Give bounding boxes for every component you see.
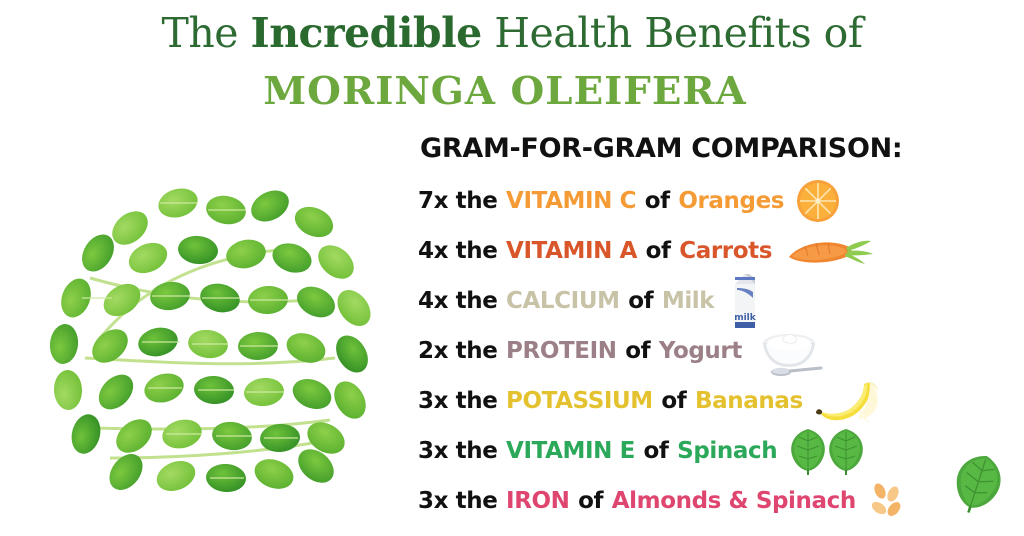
food-yogurt: Yogurt: [658, 338, 743, 364]
connector-of-2: of: [628, 288, 653, 314]
food-oranges: Oranges: [677, 188, 785, 214]
icons-iron: [867, 481, 907, 521]
nutrient-vitamin-e: VITAMIN E: [505, 438, 636, 464]
icons-protein: [753, 325, 827, 377]
fact-text-vitamin-a: 4x the VITAMIN A of Carrots: [418, 236, 773, 266]
fact-row-iron: 3x the IRON of Almonds & Spinach: [418, 476, 1024, 526]
connector-of-3: of: [625, 338, 650, 364]
fact-text-potassium: 3x the POTASSIUM of Bananas: [418, 386, 804, 416]
fact-row-potassium: 3x the POTASSIUM of Bananas: [418, 376, 1024, 426]
connector-of-6: of: [578, 488, 603, 514]
connector-the-2: the: [456, 288, 498, 314]
fact-row-protein: 2x the PROTEIN of Yogurt: [418, 326, 1024, 376]
multiplier-vitamin-a: 4x: [418, 238, 448, 264]
connector-of-1: of: [646, 238, 671, 264]
nutrient-iron: IRON: [505, 488, 570, 514]
fact-text-iron: 3x the IRON of Almonds & Spinach: [418, 486, 857, 516]
carrot-icon: [783, 232, 875, 270]
connector-of-4: of: [661, 388, 686, 414]
icons-calcium: milk: [725, 272, 765, 330]
connector-of-5: of: [644, 438, 669, 464]
nutrient-vitamin-a: VITAMIN A: [505, 238, 638, 264]
fact-text-protein: 2x the PROTEIN of Yogurt: [418, 336, 743, 366]
icons-vitamin-a: [783, 232, 875, 270]
infographic-page: The Incredible Health Benefits of MORING…: [0, 0, 1024, 536]
connector-the-5: the: [456, 438, 498, 464]
moringa-leaves-photo: [30, 158, 390, 518]
food-carrots: Carrots: [678, 238, 773, 264]
yogurt-bowl-icon: [753, 325, 827, 377]
fact-row-vitamin-c: 7x the VITAMIN C of Oranges: [418, 176, 1024, 226]
banana-icon: [814, 374, 884, 428]
nutrient-potassium: POTASSIUM: [505, 388, 654, 414]
connector-the-6: the: [456, 488, 498, 514]
multiplier-potassium: 3x: [418, 388, 448, 414]
connector-of-0: of: [645, 188, 670, 214]
multiplier-iron: 3x: [418, 488, 448, 514]
nutrient-protein: PROTEIN: [505, 338, 618, 364]
icons-vitamin-e: [788, 427, 866, 475]
fact-row-vitamin-a: 4x the VITAMIN A of Carrots: [418, 226, 1024, 276]
multiplier-vitamin-e: 3x: [418, 438, 448, 464]
title-part-incredible: Incredible: [251, 9, 482, 57]
milk-carton-icon: milk: [725, 272, 765, 330]
comparison-heading: GRAM-FOR-GRAM COMPARISON:: [420, 132, 1024, 166]
spinach-leaf-icon: [826, 427, 866, 475]
comparison-list: GRAM-FOR-GRAM COMPARISON: 7x the VITAMIN…: [418, 132, 1024, 532]
spinach-leaf-icon-iron-row: [952, 452, 1004, 519]
fact-row-calcium: 4x the CALCIUM of Milk milk: [418, 276, 1024, 326]
orange-slice-icon: [795, 178, 841, 224]
multiplier-calcium: 4x: [418, 288, 448, 314]
milk-carton-label: milk: [734, 313, 757, 323]
icons-potassium: [814, 374, 884, 428]
nutrient-calcium: CALCIUM: [505, 288, 621, 314]
food-spinach: Spinach: [676, 438, 778, 464]
connector-the-4: the: [456, 388, 498, 414]
icons-vitamin-c: [795, 178, 841, 224]
almonds-icon: [867, 481, 907, 521]
nutrient-vitamin-c: VITAMIN C: [505, 188, 637, 214]
food-almonds-and-spinach: Almonds & Spinach: [611, 488, 857, 514]
page-title-line-1: The Incredible Health Benefits of: [0, 8, 1024, 58]
connector-the-3: the: [456, 338, 498, 364]
title-part-the: The: [161, 9, 250, 57]
title-part-health-benefits-of: Health Benefits of: [482, 9, 863, 57]
page-subtitle-moringa-oleifera: MORINGA OLEIFERA: [0, 68, 1020, 114]
fact-text-calcium: 4x the CALCIUM of Milk: [418, 286, 715, 316]
food-bananas: Bananas: [694, 388, 804, 414]
multiplier-vitamin-c: 7x: [418, 188, 448, 214]
food-milk: Milk: [661, 288, 715, 314]
fact-text-vitamin-c: 7x the VITAMIN C of Oranges: [418, 186, 785, 216]
fact-text-vitamin-e: 3x the VITAMIN E of Spinach: [418, 436, 778, 466]
multiplier-protein: 2x: [418, 338, 448, 364]
connector-the-0: the: [456, 188, 498, 214]
fact-row-vitamin-e: 3x the VITAMIN E of Spinach: [418, 426, 1024, 476]
connector-the-1: the: [456, 238, 498, 264]
spinach-leaf-icon: [788, 427, 828, 475]
